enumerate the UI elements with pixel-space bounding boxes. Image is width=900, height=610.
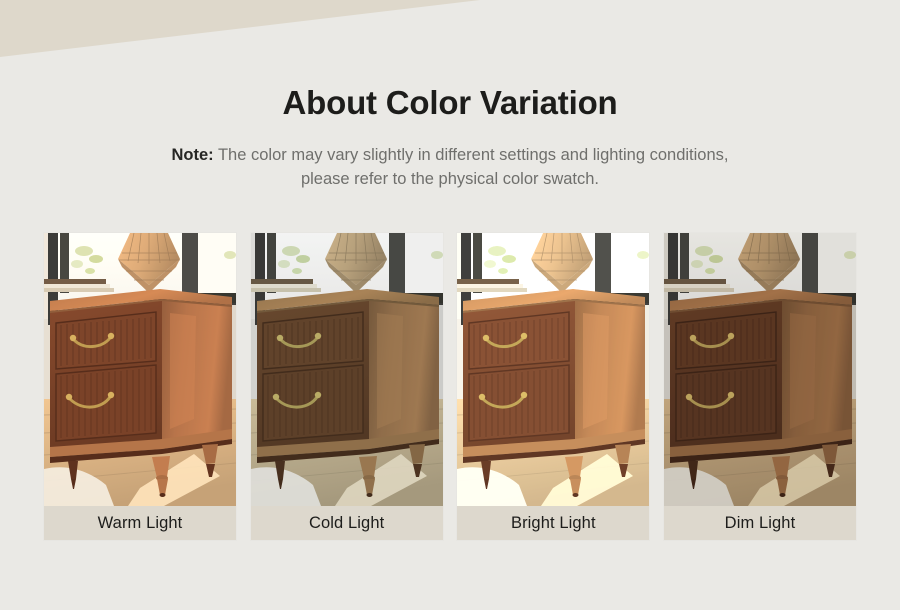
nightstand-photo — [457, 233, 649, 506]
color-variation-note: Note: The color may vary slightly in dif… — [0, 122, 900, 192]
color-variation-card[interactable]: Bright Light — [457, 233, 649, 540]
nightstand-photo — [251, 233, 443, 506]
note-text-1: The color may vary slightly in different… — [214, 146, 729, 164]
nightstand-photo-svg — [251, 233, 443, 506]
card-caption: Dim Light — [664, 506, 856, 540]
color-variation-card-row: Warm Light — [44, 233, 856, 540]
nightstand-photo — [44, 233, 236, 506]
color-variation-card[interactable]: Dim Light — [664, 233, 856, 540]
page-header: About Color Variation Note: The color ma… — [0, 0, 900, 192]
nightstand-photo-svg — [457, 233, 649, 506]
note-label: Note: — [172, 146, 214, 164]
note-line-1: Note: The color may vary slightly in dif… — [0, 144, 900, 168]
color-variation-card[interactable]: Warm Light — [44, 233, 236, 540]
card-caption: Cold Light — [251, 506, 443, 540]
color-variation-card[interactable]: Cold Light — [251, 233, 443, 540]
nightstand-photo-svg — [44, 233, 236, 506]
card-caption: Warm Light — [44, 506, 236, 540]
nightstand-photo — [664, 233, 856, 506]
note-text-2: please refer to the physical color swatc… — [0, 168, 900, 192]
card-caption: Bright Light — [457, 506, 649, 540]
page-title: About Color Variation — [0, 0, 900, 122]
nightstand-photo-svg — [664, 233, 856, 506]
